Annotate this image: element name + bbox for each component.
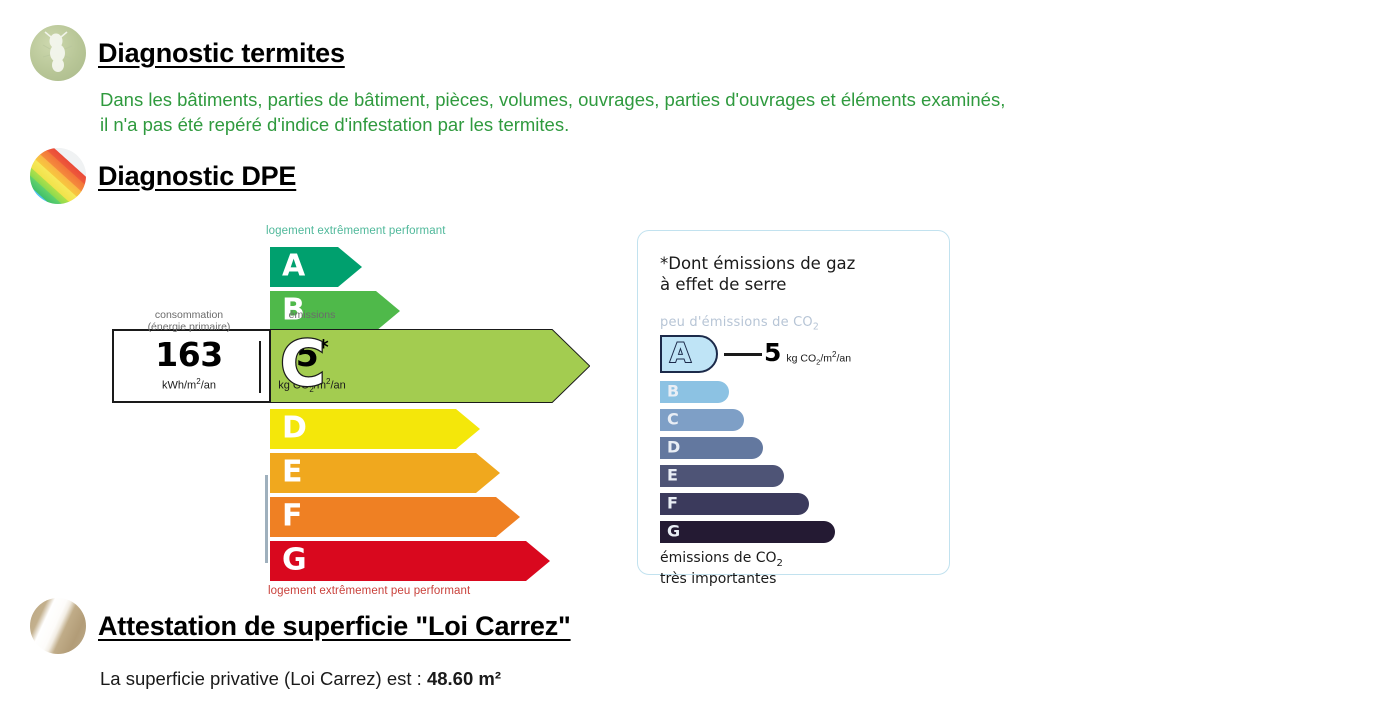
value-cell-consumption-caption: consommation (énergie primaire) (120, 309, 258, 333)
ruler-icon (30, 598, 86, 654)
value-consumption: 163 (120, 335, 258, 375)
energy-class-scale: logement extrêmement performant A B cons… (112, 213, 632, 573)
co2-bar-d: D (660, 437, 763, 459)
co2-bar-a-letter: A (670, 340, 691, 367)
page-title-termites: Diagnostic termites (98, 38, 345, 69)
energy-bar-g: G (270, 541, 550, 581)
co2-bar-e: E (660, 465, 784, 487)
value-cell-divider (259, 341, 261, 393)
scale-caption-bottom: logement extrêmement peu performant (268, 585, 470, 597)
co2-bar-b: B (660, 381, 729, 403)
page-title-dpe: Diagnostic DPE (98, 161, 296, 192)
co2-caption-bottom: émissions de CO2 très importantes (660, 549, 783, 588)
page-title-carrez: Attestation de superficie "Loi Carrez" (98, 611, 571, 642)
co2-caption-top: peu d'émissions de CO2 (660, 315, 819, 333)
section-header-termites: Diagnostic termites (30, 25, 345, 81)
termites-description-line-1: Dans les bâtiments, parties de bâtiment,… (100, 88, 1390, 113)
co2-bar-e-letter: E (667, 468, 678, 484)
energy-bar-e: E (270, 453, 500, 493)
energy-bar-f: F (270, 497, 520, 537)
co2-bar-g: G (660, 521, 835, 543)
energy-bar-e-letter: E (282, 457, 303, 487)
co2-panel-title: *Dont émissions de gaz à effet de serre (660, 253, 855, 295)
co2-bar-c-letter: C (667, 412, 679, 428)
carrez-surface-value: 48.60 m² (427, 668, 501, 689)
co2-bar-f-letter: F (667, 496, 678, 512)
termites-description-line-2: il n'a pas été repéré d'indice d'infesta… (100, 113, 1390, 138)
value-cell-emissions-caption: émissions (262, 309, 362, 321)
energy-bar-c-row: consommation (énergie primaire) 163 kWh/… (112, 329, 590, 403)
carrez-surface-text: La superficie privative (Loi Carrez) est… (100, 668, 1370, 690)
co2-value: 5 (764, 339, 781, 367)
termites-description: Dans les bâtiments, parties de bâtiment,… (100, 88, 1390, 138)
co2-unit: kg CO2/m2/an (786, 350, 851, 367)
unit-consumption: kWh/m2/an (120, 375, 258, 393)
energy-bar-d: D (270, 409, 480, 449)
energy-bar-c-letter: C (280, 333, 326, 395)
section-header-carrez: Attestation de superficie "Loi Carrez" (30, 598, 1370, 654)
section-carrez: Attestation de superficie "Loi Carrez" L… (30, 598, 1370, 690)
co2-bar-f: F (660, 493, 809, 515)
energy-bar-a-letter: A (282, 251, 305, 281)
energy-bar-a: A (270, 247, 362, 287)
co2-leader-line (724, 353, 762, 356)
co2-bar-c: C (660, 409, 744, 431)
termite-icon (30, 25, 86, 81)
co2-emissions-panel: *Dont émissions de gaz à effet de serre … (637, 230, 950, 575)
scale-side-rule (265, 475, 268, 563)
energy-bar-f-letter: F (282, 501, 303, 531)
carrez-surface-label: La superficie privative (Loi Carrez) est… (100, 668, 427, 689)
energy-bar-d-letter: D (282, 413, 307, 443)
section-header-dpe: Diagnostic DPE (30, 148, 296, 204)
dpe-chart: logement extrêmement performant A B cons… (0, 205, 1400, 585)
co2-bar-a: A (660, 335, 718, 373)
rainbow-icon (30, 148, 86, 204)
scale-caption-top: logement extrêmement performant (266, 225, 446, 237)
energy-bar-g-letter: G (282, 545, 307, 575)
rainbow-stripes (30, 148, 86, 204)
co2-value-group: 5 kg CO2/m2/an (764, 339, 851, 367)
co2-bar-b-letter: B (667, 384, 679, 400)
co2-bar-g-letter: G (667, 524, 680, 540)
co2-bar-d-letter: D (667, 440, 680, 456)
value-cell-consumption: consommation (énergie primaire) 163 kWh/… (120, 335, 258, 397)
